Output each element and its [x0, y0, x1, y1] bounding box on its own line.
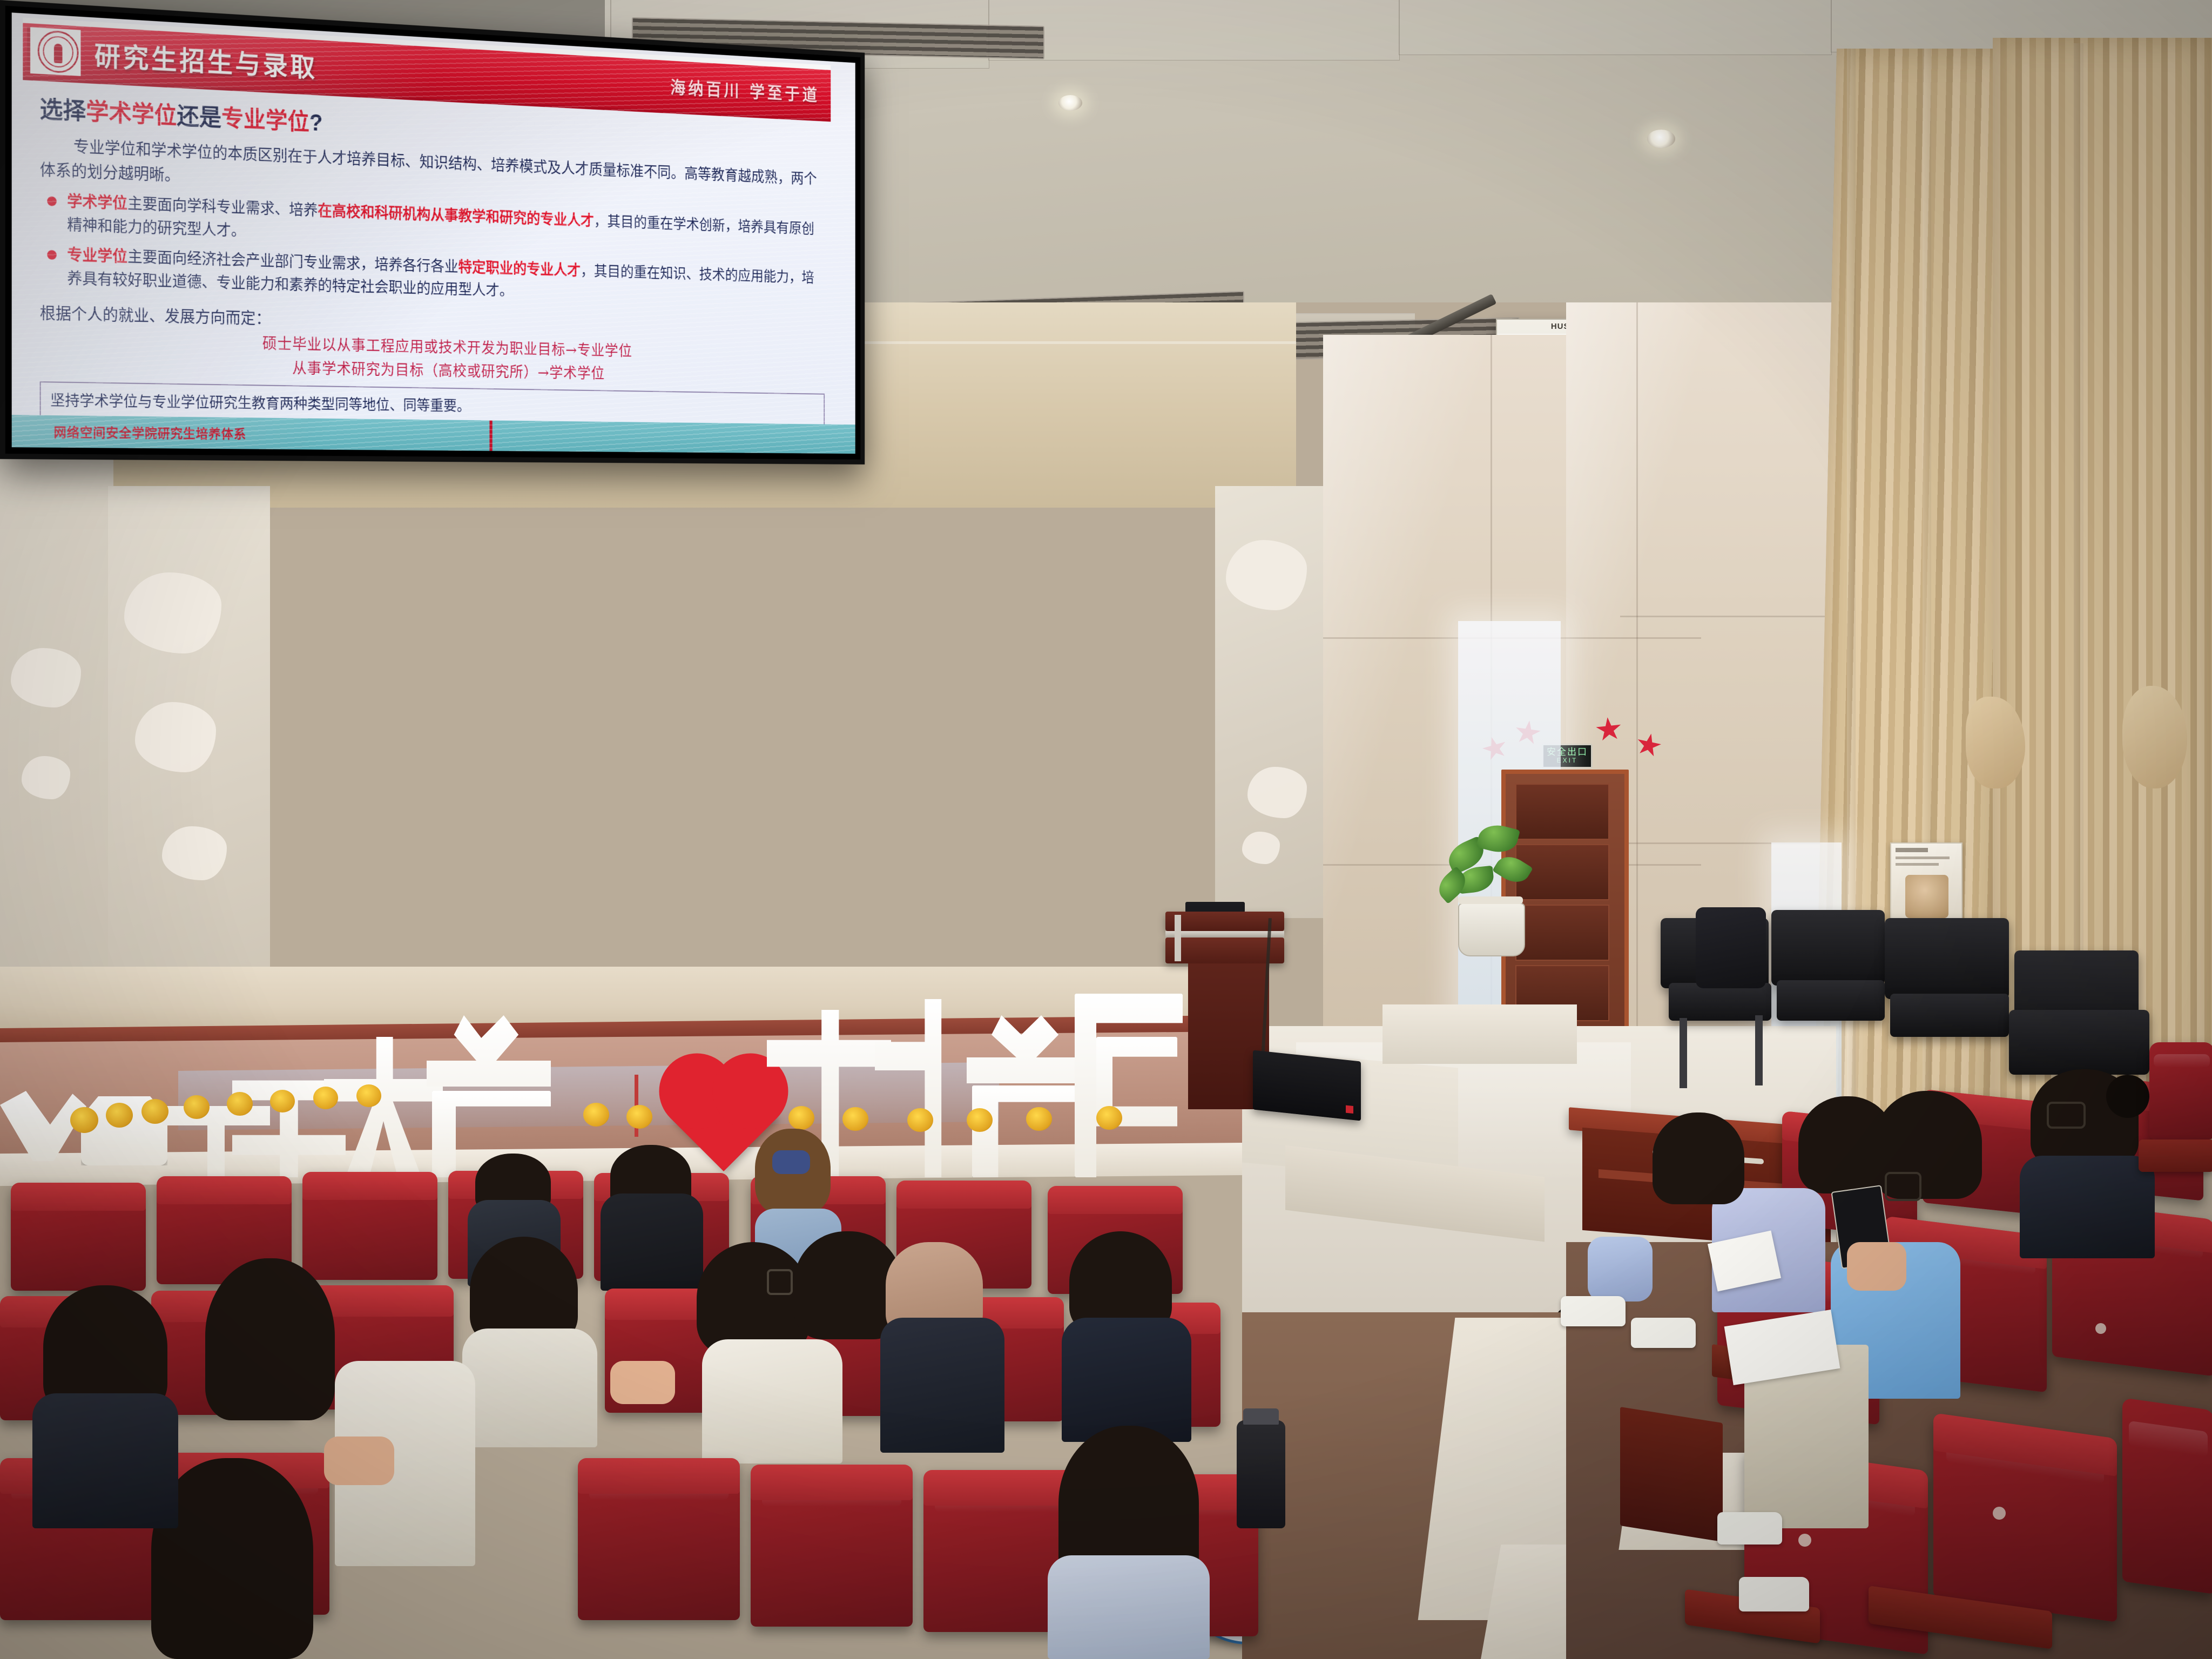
hair-scrunchie	[772, 1150, 810, 1174]
slide-footer-text: 网络空间安全学院研究生培养体系	[53, 422, 246, 442]
bullet-2-b: 特定职业的专业人才	[458, 258, 581, 279]
wall-stain	[1247, 767, 1307, 818]
decorative-flower	[907, 1108, 933, 1132]
slide-motto: 海纳百川 学至于道	[670, 73, 820, 106]
seat-headrest	[751, 1465, 913, 1500]
audience-torso	[880, 1318, 1004, 1453]
conference-chair[interactable]	[1885, 918, 2009, 999]
lectern-top	[1165, 912, 1284, 931]
poster-image	[1905, 875, 1948, 918]
audience-torso	[32, 1393, 178, 1528]
quote-line-1: 坚持学术学位与专业学位研究生教育两种类型同等地位、同等重要。	[50, 389, 816, 420]
wall-tile-line	[1620, 616, 1847, 617]
presenter-shoe	[1631, 1318, 1696, 1348]
seat-back[interactable]	[2122, 1398, 2212, 1594]
poster-text-line	[1896, 848, 1928, 852]
conference-chair[interactable]	[1771, 910, 1885, 986]
seat-tablet-desk-panel	[1620, 1407, 1723, 1542]
bullet-2-a: 主要面向经济社会产业部门专业需求，培养各行各业	[127, 248, 458, 276]
decorative-flower	[313, 1087, 338, 1109]
q-highlight-2: 专业学位	[221, 105, 309, 135]
decorative-flower	[583, 1103, 609, 1127]
decorative-flower	[356, 1084, 381, 1107]
wall-stain	[1242, 832, 1280, 864]
chair-leg	[1755, 1015, 1763, 1085]
slide-footer-tick	[489, 420, 492, 451]
hair-bun	[2106, 1075, 2149, 1118]
decorative-flower	[227, 1092, 253, 1116]
decorative-flower	[1096, 1106, 1122, 1130]
audience-shoulder	[1588, 1237, 1653, 1301]
bullet-2-lead: 专业学位	[67, 246, 127, 266]
lectern-stripe	[1165, 931, 1284, 938]
plant-pot-rim	[1458, 896, 1523, 904]
seat-back[interactable]	[2149, 1042, 2212, 1139]
wall-poster	[1890, 842, 1963, 926]
seat-headrest	[157, 1176, 292, 1204]
door-panel	[1515, 784, 1609, 840]
conference-chair-seat	[1777, 980, 1885, 1021]
q-prefix: 选择	[40, 97, 86, 125]
chair-leg	[1680, 1018, 1687, 1088]
audience-glasses	[2047, 1102, 2086, 1129]
slide-body: 选择学术学位还是专业学位? 专业学位和学术学位的本质区别在于人才培养目标、知识结…	[40, 90, 825, 449]
decorative-flower	[842, 1107, 868, 1131]
seat-stud	[2095, 1323, 2106, 1334]
monitor-logo	[1346, 1105, 1353, 1114]
decorative-flower	[106, 1103, 133, 1128]
yunnan-university-seal-icon	[38, 30, 79, 75]
audience-glasses	[767, 1269, 793, 1295]
q-middle: 还是	[177, 103, 221, 131]
decorative-flower	[788, 1106, 814, 1130]
seat-headrest	[578, 1458, 740, 1494]
decorative-flower	[141, 1099, 168, 1124]
wall-stain	[162, 826, 227, 880]
audience-hand	[1847, 1242, 1906, 1291]
audience-torso	[462, 1328, 597, 1447]
seat-stud	[1993, 1507, 2006, 1520]
audience-head	[697, 1242, 810, 1355]
ceiling-panel	[1399, 0, 1832, 55]
audience-torso	[702, 1339, 842, 1464]
slide-title: 研究生招生与录取	[95, 35, 318, 85]
seat-stud	[1798, 1534, 1811, 1547]
presenter-shoe	[1561, 1296, 1626, 1326]
q-suffix: ?	[309, 110, 323, 136]
decorative-flower	[1026, 1107, 1052, 1131]
audience-head	[1653, 1112, 1744, 1204]
bottle-cap	[1243, 1408, 1279, 1425]
stage-platform-edge	[1382, 1004, 1577, 1064]
conference-chair-seat	[2009, 1010, 2149, 1075]
audience-torso	[1048, 1555, 1210, 1659]
backpack	[1696, 907, 1766, 988]
poster-text-line	[1896, 863, 1939, 866]
audience-torso	[1062, 1318, 1191, 1442]
ceiling-downlight	[1647, 130, 1675, 148]
ceiling-downlight	[1058, 95, 1082, 111]
audience-torso	[2020, 1156, 2155, 1258]
seat-headrest	[896, 1181, 1031, 1209]
water-bottle[interactable]	[1237, 1420, 1285, 1528]
stage-monitor	[1253, 1050, 1361, 1121]
decorative-flower	[270, 1090, 295, 1112]
seat-headrest	[302, 1172, 437, 1200]
photo-scene: HUSHAN 安全出口 EXIT	[0, 0, 2212, 1659]
lectern-monitor	[1185, 902, 1245, 913]
audience-head	[205, 1258, 335, 1420]
audience-shoe	[1717, 1512, 1782, 1545]
university-seal-container	[27, 27, 80, 76]
bullet-1-lead: 学术学位	[67, 192, 127, 213]
bullet-1-a: 主要面向学科专业需求、培养	[127, 194, 318, 219]
presentation-slide: 研究生招生与录取 海纳百川 学至于道 选择学术学位还是专业学位? 专业学位和学术…	[12, 12, 855, 454]
conference-chair-seat	[1890, 994, 2009, 1037]
seat-armrest	[2139, 1139, 2212, 1172]
seat-headrest	[1048, 1186, 1183, 1214]
plant-pot	[1458, 903, 1525, 956]
wall-tile-line	[1636, 302, 1638, 1058]
projection-screen: 研究生招生与录取 海纳百川 学至于道 选择学术学位还是专业学位? 专业学位和学术…	[0, 0, 865, 464]
wall-stain	[22, 756, 70, 799]
audience-glasses	[1885, 1172, 1921, 1201]
audience-shoe	[1739, 1577, 1809, 1611]
audience-arm	[610, 1361, 675, 1404]
decorative-flower	[184, 1095, 210, 1119]
audience-torso	[601, 1193, 703, 1291]
lectern-side-trim	[1175, 915, 1181, 961]
decorative-flower	[967, 1108, 993, 1132]
poster-text-line	[1896, 857, 1950, 859]
door-panel	[1515, 905, 1609, 961]
audience-hand	[324, 1437, 394, 1485]
q-highlight-1: 学术学位	[86, 99, 177, 129]
decorative-flower	[70, 1107, 98, 1133]
decorative-flower	[626, 1105, 652, 1129]
seat-headrest	[11, 1183, 146, 1211]
bullet-1-b: 在高校和科研机构从事教学和研究的专业人才	[318, 202, 594, 230]
ceiling-panel	[988, 0, 1400, 60]
